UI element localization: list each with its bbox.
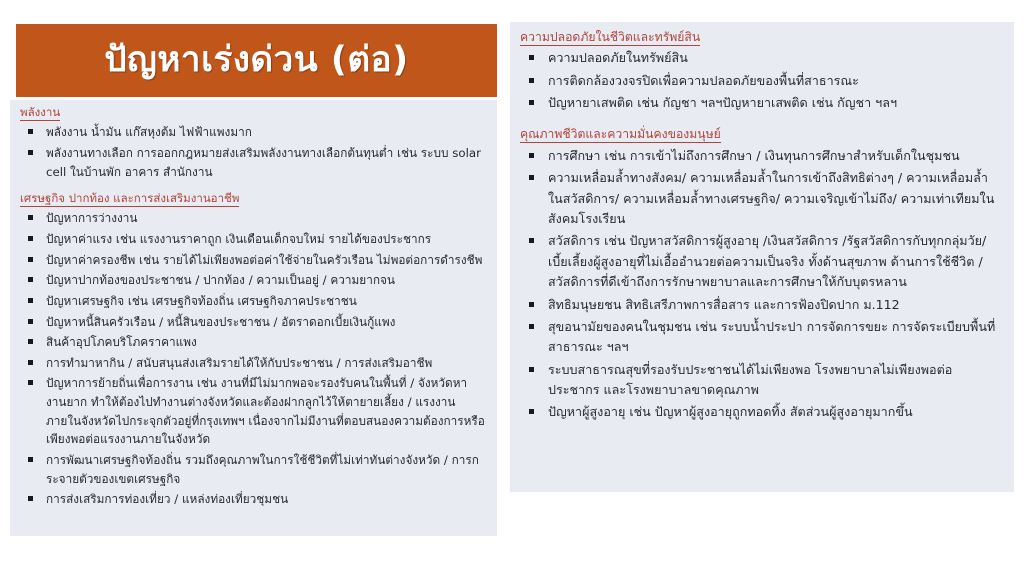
list-item-text: ความปลอดภัยในทรัพย์สิน xyxy=(548,50,688,65)
list-item: พลังงาน น้ำมัน แก๊สหุงต้ม ไฟฟ้าแพงมาก xyxy=(16,122,491,143)
list-item: สวัสดิการ เช่น ปัญหาสวัสดิการผู้สูงอายุ … xyxy=(516,230,1006,293)
bullet-square-icon xyxy=(529,55,534,60)
bullet-square-icon xyxy=(28,496,33,501)
bullet-square-icon xyxy=(28,319,33,324)
list-item-text: พลังงาน น้ำมัน แก๊สหุงต้ม ไฟฟ้าแพงมาก xyxy=(46,125,252,139)
list-item-text: ปัญหาค่าแรง เช่น แรงงานราคาถูก เงินเดือน… xyxy=(46,232,431,246)
safety-bullet-list: ความปลอดภัยในทรัพย์สิน การติดกล้องวงจรปิ… xyxy=(516,47,1006,114)
bullet-square-icon xyxy=(28,360,33,365)
section-heading-economy-label: เศรษฐกิจ ปากท้อง และการส่งเสริมงานอาชีพ xyxy=(20,191,239,207)
page-title: ปัญหาเร่งด่วน (ต่อ) xyxy=(104,43,408,78)
list-item: ปัญหาหนี้สินครัวเรือน / หนี้สินของประชาช… xyxy=(16,312,491,333)
list-item: การศึกษา เช่น การเข้าไม่ถึงการศึกษา / เง… xyxy=(516,145,1006,167)
list-item: ความเหลื่อมล้ำทางสังคม/ ความเหลื่อมล้ำใน… xyxy=(516,167,1006,230)
list-item: ปัญหาเศรษฐกิจ เช่น เศรษฐกิจท้องถิ่น เศรษ… xyxy=(16,291,491,312)
list-item-text: ปัญหาการย้ายถิ่นเพื่อการงาน เช่น งานที่ม… xyxy=(46,376,485,446)
list-item-text: สินค้าอุปโภคบริโภคราคาแพง xyxy=(46,335,197,349)
list-item-text: การส่งเสริมการท่องเที่ยว / แหล่งท่องเที่… xyxy=(46,492,288,506)
list-item-text: สวัสดิการ เช่น ปัญหาสวัสดิการผู้สูงอายุ … xyxy=(548,233,986,289)
list-item: ปัญหายาเสพติด เช่น กัญชา ฯลฯปัญหายาเสพติ… xyxy=(516,92,1006,114)
list-item: สุขอนามัยของคนในชุมชน เช่น ระบบน้ำประปา … xyxy=(516,316,1006,359)
bullet-square-icon xyxy=(529,324,534,329)
list-item-text: สุขอนามัยของคนในชุมชน เช่น ระบบน้ำประปา … xyxy=(548,319,995,354)
section-heading-energy-label: พลังงาน xyxy=(20,105,60,121)
list-item: สินค้าอุปโภคบริโภคราคาแพง xyxy=(16,332,491,353)
bullet-square-icon xyxy=(529,409,534,414)
bullet-square-icon xyxy=(529,100,534,105)
section-heading-energy: พลังงาน xyxy=(16,102,491,122)
list-item: พลังงานทางเลือก การออกกฎหมายส่งเสริมพลัง… xyxy=(16,143,491,182)
section-heading-quality-of-life-label: คุณภาพชีวิตและความมั่นคงของมนุษย์ xyxy=(520,127,721,143)
bullet-square-icon xyxy=(28,257,33,262)
bullet-square-icon xyxy=(28,215,33,220)
list-item: ปัญหาค่าครองชีพ เช่น รายได้ไม่เพียงพอต่อ… xyxy=(16,250,491,271)
bullet-square-icon xyxy=(28,277,33,282)
list-item: การติดกล้องวงจรปิดเพื่อความปลอดภัยของพื้… xyxy=(516,70,1006,92)
bullet-square-icon xyxy=(529,78,534,83)
list-item: การพัฒนาเศรษฐกิจท้องถิ่น รวมถึงคุณภาพในก… xyxy=(16,450,491,489)
bullet-square-icon xyxy=(28,339,33,344)
list-item-text: ระบบสาธารณสุขที่รองรับประชาชนได้ไม่เพียง… xyxy=(548,362,952,397)
bullet-square-icon xyxy=(28,298,33,303)
list-item-text: พลังงานทางเลือก การออกกฎหมายส่งเสริมพลัง… xyxy=(46,146,481,179)
section-heading-safety: ความปลอดภัยในชีวิตและทรัพย์สิน xyxy=(516,26,1006,47)
bullet-square-icon xyxy=(529,367,534,372)
list-item-text: ปัญหาปากท้องของประชาชน / ปากท้อง / ความเ… xyxy=(46,273,395,287)
section-heading-economy: เศรษฐกิจ ปากท้อง และการส่งเสริมงานอาชีพ xyxy=(16,188,491,208)
list-item: การทำมาหากิน / สนับสนุนส่งเสริมรายได้ให้… xyxy=(16,353,491,374)
bullet-square-icon xyxy=(28,129,33,134)
section-heading-safety-label: ความปลอดภัยในชีวิตและทรัพย์สิน xyxy=(520,30,700,46)
list-item-text: ปัญหาการว่างงาน xyxy=(46,211,138,225)
bullet-square-icon xyxy=(28,236,33,241)
list-item-text: สิทธิมนุษยชน สิทธิเสรีภาพการสื่อสาร และก… xyxy=(548,297,900,312)
list-item: ปัญหาการย้ายถิ่นเพื่อการงาน เช่น งานที่ม… xyxy=(16,373,491,450)
quality-of-life-bullet-list: การศึกษา เช่น การเข้าไม่ถึงการศึกษา / เง… xyxy=(516,145,1006,424)
bullet-square-icon xyxy=(529,175,534,180)
list-item-text: การติดกล้องวงจรปิดเพื่อความปลอดภัยของพื้… xyxy=(548,73,859,88)
slide-canvas: ปัญหาเร่งด่วน (ต่อ) พลังงาน พลังงาน น้ำม… xyxy=(0,0,1024,587)
list-item-text: ความเหลื่อมล้ำทางสังคม/ ความเหลื่อมล้ำใน… xyxy=(548,170,994,226)
list-item-text: ปัญหาเศรษฐกิจ เช่น เศรษฐกิจท้องถิ่น เศรษ… xyxy=(46,294,357,308)
bullet-square-icon xyxy=(529,153,534,158)
bullet-square-icon xyxy=(28,150,33,155)
bullet-square-icon xyxy=(529,302,534,307)
list-item-text: ปัญหายาเสพติด เช่น กัญชา ฯลฯปัญหายาเสพติ… xyxy=(548,95,897,110)
list-item: ความปลอดภัยในทรัพย์สิน xyxy=(516,47,1006,69)
section-heading-quality-of-life: คุณภาพชีวิตและความมั่นคงของมนุษย์ xyxy=(516,123,1006,144)
energy-bullet-list: พลังงาน น้ำมัน แก๊สหุงต้ม ไฟฟ้าแพงมาก พล… xyxy=(16,122,491,182)
list-item: การส่งเสริมการท่องเที่ยว / แหล่งท่องเที่… xyxy=(16,489,491,510)
list-item: ปัญหาผู้สูงอายุ เช่น ปัญหาผู้สูงอายุถูกท… xyxy=(516,401,1006,423)
list-item: ระบบสาธารณสุขที่รองรับประชาชนได้ไม่เพียง… xyxy=(516,359,1006,402)
bullet-square-icon xyxy=(28,380,33,385)
left-content-panel: พลังงาน พลังงาน น้ำมัน แก๊สหุงต้ม ไฟฟ้าแ… xyxy=(10,100,497,536)
section-spacer xyxy=(516,114,1006,123)
right-content-panel: ความปลอดภัยในชีวิตและทรัพย์สิน ความปลอดภ… xyxy=(510,22,1014,492)
list-item: ปัญหาปากท้องของประชาชน / ปากท้อง / ความเ… xyxy=(16,270,491,291)
list-item-text: ปัญหาผู้สูงอายุ เช่น ปัญหาผู้สูงอายุถูกท… xyxy=(548,404,913,419)
list-item-text: การพัฒนาเศรษฐกิจท้องถิ่น รวมถึงคุณภาพในก… xyxy=(46,453,479,486)
list-item-text: ปัญหาค่าครองชีพ เช่น รายได้ไม่เพียงพอต่อ… xyxy=(46,253,482,267)
list-item-text: ปัญหาหนี้สินครัวเรือน / หนี้สินของประชาช… xyxy=(46,315,395,329)
list-item-text: การศึกษา เช่น การเข้าไม่ถึงการศึกษา / เง… xyxy=(548,148,960,163)
slide-title-banner: ปัญหาเร่งด่วน (ต่อ) xyxy=(16,24,497,97)
list-item-text: การทำมาหากิน / สนับสนุนส่งเสริมรายได้ให้… xyxy=(46,356,432,370)
list-item: ปัญหาการว่างงาน xyxy=(16,208,491,229)
bullet-square-icon xyxy=(529,238,534,243)
bullet-square-icon xyxy=(28,457,33,462)
list-item: สิทธิมนุษยชน สิทธิเสรีภาพการสื่อสาร และก… xyxy=(516,294,1006,316)
list-item: ปัญหาค่าแรง เช่น แรงงานราคาถูก เงินเดือน… xyxy=(16,229,491,250)
economy-bullet-list: ปัญหาการว่างงาน ปัญหาค่าแรง เช่น แรงงานร… xyxy=(16,208,491,509)
